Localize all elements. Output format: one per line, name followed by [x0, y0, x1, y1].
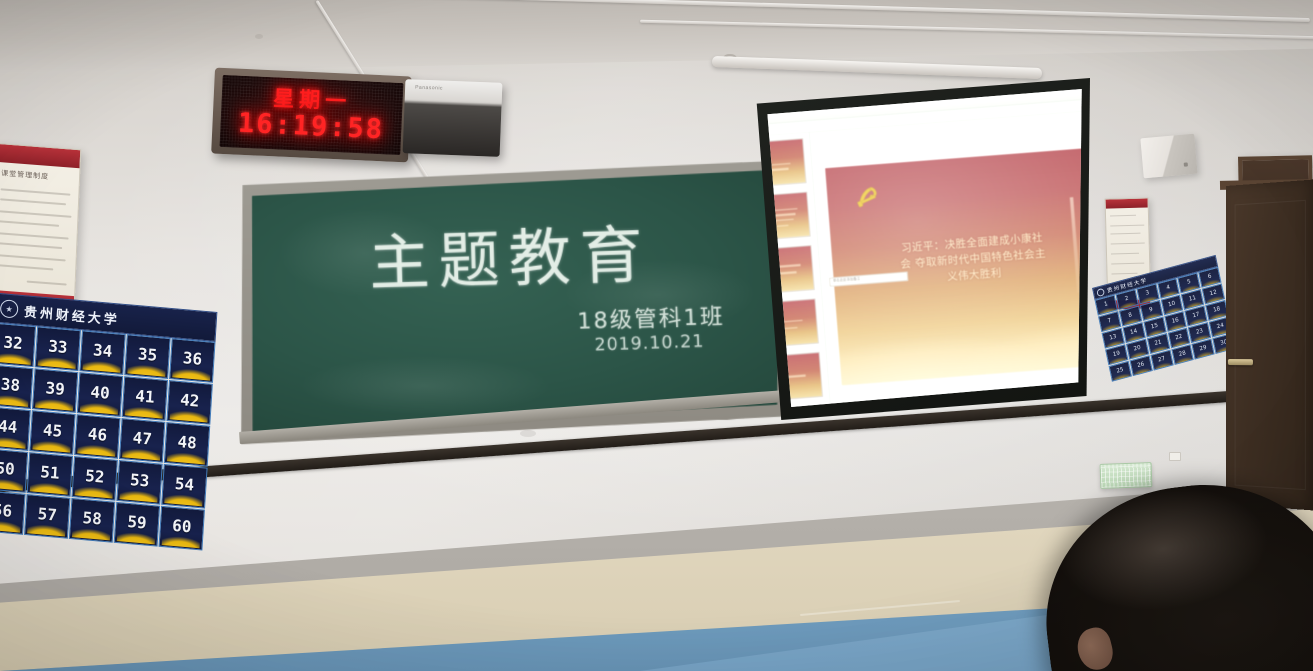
wall-outlet: [1169, 452, 1181, 461]
pocket-accent: [32, 437, 71, 452]
pocket-number: 27: [1157, 355, 1165, 363]
pocket-slot[interactable]: 36: [169, 338, 215, 383]
pocket-number: 15: [1150, 322, 1158, 330]
pocket-slot[interactable]: 50: [0, 448, 28, 493]
pocket-accent: [164, 491, 203, 506]
pocket-slot[interactable]: 32: [0, 322, 36, 367]
poster-body-line: [0, 198, 66, 205]
pocket-number: 44: [0, 416, 18, 437]
pocket-slot[interactable]: 47: [119, 418, 165, 463]
pocket-number: 52: [85, 466, 105, 487]
pocket-accent: [122, 445, 161, 460]
pocket-number: 13: [1109, 333, 1117, 341]
pocket-accent: [0, 392, 29, 407]
pocket-accent: [116, 529, 155, 544]
pocket-slot[interactable]: 27: [1150, 350, 1173, 371]
vent-sensor-icon: [1184, 162, 1188, 166]
door-handle[interactable]: [1228, 359, 1253, 365]
pocket-number: 10: [1168, 300, 1176, 308]
pocket-accent: [77, 441, 116, 456]
poster-body-line: [1111, 243, 1145, 245]
led-wall-clock: 星期一 16:19:58: [211, 68, 412, 163]
pocket-slot[interactable]: 44: [0, 406, 31, 451]
poster-body-line: [1110, 215, 1136, 217]
poster-body-line: [1112, 273, 1138, 275]
pocket-slot[interactable]: 29: [1192, 339, 1215, 360]
poster-signature-line: [27, 280, 67, 285]
poster-body-line: [0, 220, 59, 226]
projection-surface: 剪贴板 幻灯片 字体 段落: [745, 78, 1090, 420]
pocket-slot[interactable]: 51: [27, 452, 73, 497]
current-slide[interactable]: 习近平：决胜全面建成小康社 会 夺取新时代中国特色社会主 义伟大胜利: [825, 147, 1090, 385]
pocket-accent: [167, 449, 206, 464]
pocket-slot[interactable]: 46: [74, 414, 120, 459]
pocket-number: 41: [135, 386, 155, 407]
pocket-number: 17: [1192, 311, 1200, 319]
pocket-number: 35: [137, 344, 157, 365]
pocket-accent: [119, 487, 158, 502]
pocket-slot[interactable]: 57: [24, 494, 70, 539]
pocket-grid: 32 33 34 35 36 38 39 40 41 42 44 45 46 4…: [0, 322, 216, 550]
poster-top-band: [0, 144, 80, 168]
pocket-number: 4: [1166, 284, 1171, 291]
pocket-accent: [82, 357, 121, 372]
poster-body-line: [1110, 233, 1140, 235]
blackboard-class-text: 18级管科1班: [577, 298, 726, 335]
pocket-number: 28: [1178, 350, 1186, 358]
pocket-number: 50: [0, 458, 15, 479]
poster-body-line: [0, 254, 66, 261]
wall-speaker: Panasonic: [403, 79, 503, 157]
pocket-number: 38: [0, 374, 20, 395]
pocket-number: 1: [1104, 301, 1109, 308]
pocket-number: 9: [1149, 306, 1154, 313]
pocket-number: 46: [87, 424, 107, 445]
poster-top-band: [1106, 198, 1148, 208]
pocket-slot[interactable]: 34: [79, 330, 125, 375]
powerpoint-window: 剪贴板 幻灯片 字体 段落: [745, 78, 1090, 420]
poster-body-line: [0, 232, 69, 239]
projection-screen: 剪贴板 幻灯片 字体 段落: [745, 78, 1090, 420]
pocket-accent: [127, 361, 166, 376]
blackboard-date-text: 2019.10.21: [594, 331, 705, 355]
university-logo-icon: [1096, 287, 1105, 296]
pocket-accent: [72, 525, 111, 540]
chalk-smudge-3: [298, 356, 553, 416]
pocket-accent: [80, 399, 119, 414]
pocket-number: 53: [129, 470, 149, 491]
pocket-number: 48: [177, 432, 197, 453]
pocket-number: 29: [1199, 344, 1207, 352]
pocket-number: 19: [1112, 350, 1120, 358]
pocket-accent: [29, 479, 68, 494]
pocket-slot[interactable]: 48: [164, 422, 210, 467]
pocket-accent: [0, 350, 32, 365]
pocket-number: 56: [0, 500, 13, 521]
poster-body-line: [0, 242, 62, 249]
pocket-number: 5: [1187, 278, 1192, 285]
poster-body-line: [1, 188, 71, 195]
led-screen: 星期一 16:19:58: [219, 75, 403, 155]
plastic-basket: [1100, 462, 1153, 489]
pocket-number: 45: [42, 420, 62, 441]
pocket-number: 6: [1207, 273, 1212, 280]
poster-body-line: [1110, 225, 1144, 227]
pocket-number: 60: [172, 515, 192, 536]
pocket-number: 11: [1188, 294, 1196, 302]
pocket-number: 20: [1133, 344, 1141, 352]
pocket-number: 47: [132, 428, 152, 449]
pocket-accent: [0, 517, 21, 532]
pocket-number: 34: [93, 340, 113, 361]
pocket-slot[interactable]: 52: [71, 456, 117, 501]
pocket-accent: [74, 483, 113, 498]
pocket-slot[interactable]: 33: [35, 326, 81, 371]
university-logo-icon: ★: [0, 299, 19, 319]
blackboard-title-text: 主题教育: [368, 222, 700, 295]
pocket-slot[interactable]: 41: [122, 376, 168, 421]
ppt-slide-stage[interactable]: 习近平：决胜全面建成小康社 会 夺取新时代中国特色社会主 义伟大胜利: [819, 116, 1090, 416]
pocket-slot[interactable]: 53: [116, 460, 162, 505]
speaker-brand-label: Panasonic: [415, 85, 443, 92]
pocket-slot[interactable]: 28: [1171, 344, 1194, 365]
classroom-management-poster: 课堂管理制度: [0, 143, 81, 311]
pocket-number: 12: [1209, 289, 1217, 297]
classroom-door[interactable]: [1226, 179, 1313, 510]
pocket-slot[interactable]: 42: [166, 380, 212, 425]
slide-title-text: 习近平：决胜全面建成小康社 会 夺取新时代中国特色社会主 义伟大胜利: [851, 227, 1090, 294]
university-name-text: 贵州财经大学: [24, 301, 121, 328]
door-panel: [1235, 200, 1306, 490]
pocket-number: 42: [180, 390, 200, 411]
pocket-number: 58: [82, 507, 102, 528]
pocket-number: 57: [37, 504, 57, 525]
led-time-text: 16:19:58: [237, 110, 384, 144]
pocket-number: 14: [1130, 328, 1138, 336]
pocket-number: 51: [40, 462, 60, 483]
pocket-number: 7: [1107, 317, 1112, 324]
pocket-accent: [37, 354, 76, 369]
pocket-number: 26: [1137, 361, 1145, 369]
pocket-number: 8: [1128, 311, 1133, 318]
pocket-accent: [0, 475, 24, 490]
pocket-accent: [169, 407, 208, 422]
pocket-number: 3: [1145, 289, 1150, 296]
pocket-accent: [172, 365, 211, 380]
pocket-slot[interactable]: 58: [69, 498, 115, 543]
pocket-number: 40: [90, 382, 110, 403]
pocket-slot[interactable]: 26: [1129, 355, 1152, 376]
pocket-accent: [161, 533, 200, 548]
phone-pocket-chart-left: ★ 贵州财经大学 32 33 34 35 36 38 39 40 41 42 4…: [0, 292, 217, 559]
wall-ac-vent: [1140, 134, 1197, 179]
wall-scuff-1: [520, 430, 536, 437]
pocket-number: 24: [1216, 322, 1224, 330]
pocket-slot[interactable]: 40: [77, 372, 123, 417]
pocket-accent: [27, 521, 66, 536]
pocket-number: 54: [174, 473, 194, 494]
pocket-number: 59: [127, 511, 147, 532]
pocket-number: 33: [48, 336, 68, 357]
classroom-photo: 星期一 16:19:58 Panasonic 主题教育 18级管科1班 2019…: [0, 0, 1313, 671]
party-emblem-icon: [851, 179, 883, 211]
pocket-slot[interactable]: 25: [1109, 361, 1132, 382]
ppt-workspace: 习近平：决胜全面建成小康社 会 夺取新时代中国特色社会主 义伟大胜利 单击此处添…: [745, 110, 1090, 420]
pocket-slot[interactable]: 35: [124, 334, 170, 379]
pocket-number: 39: [45, 378, 65, 399]
pocket-slot[interactable]: 54: [161, 464, 207, 509]
poster-body-line: [1111, 263, 1144, 265]
pocket-number: 2: [1124, 295, 1129, 302]
pocket-slot[interactable]: 45: [29, 410, 75, 455]
pocket-slot[interactable]: 60: [159, 506, 205, 551]
pocket-number: 21: [1154, 339, 1162, 347]
wall-scuff-3: [255, 34, 263, 39]
pocket-number: 22: [1175, 333, 1183, 341]
slide-decor-hills: [825, 298, 1090, 386]
poster-heading-text: 课堂管理制度: [1, 168, 49, 182]
pocket-accent: [0, 433, 26, 448]
pocket-slot[interactable]: 59: [114, 502, 160, 547]
pocket-accent: [124, 403, 163, 418]
pocket-number: 25: [1116, 366, 1124, 374]
pocket-slot[interactable]: 56: [0, 490, 26, 535]
poster-body-line: [0, 210, 72, 217]
poster-body-line: [1111, 253, 1139, 255]
poster-body-line: [0, 264, 53, 270]
pocket-accent: [35, 395, 74, 410]
pocket-number: 23: [1195, 327, 1203, 335]
pocket-number: 16: [1171, 316, 1179, 324]
pocket-number: 32: [3, 332, 23, 353]
pocket-number: 36: [182, 348, 202, 369]
pocket-number: 18: [1213, 305, 1221, 313]
pocket-slot[interactable]: 39: [32, 368, 78, 413]
pocket-slot[interactable]: 38: [0, 364, 34, 409]
